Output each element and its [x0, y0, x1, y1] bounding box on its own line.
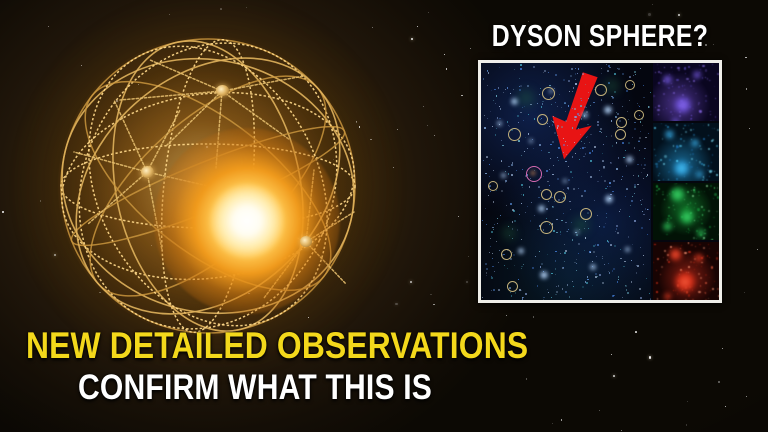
- band-speckle: [653, 95, 655, 97]
- ring-hub-node-top: [216, 85, 229, 96]
- band-speckle: [708, 244, 709, 245]
- band-speckle: [700, 277, 702, 279]
- band-speckle: [686, 78, 688, 80]
- field-star: [491, 290, 492, 291]
- field-star: [649, 293, 650, 294]
- band-speckle: [690, 118, 692, 120]
- field-star: [501, 161, 502, 162]
- field-star: [565, 291, 567, 293]
- band-speckle: [701, 219, 702, 220]
- band-speckle: [698, 210, 699, 211]
- field-star: [493, 100, 494, 101]
- field-star: [483, 78, 484, 79]
- band-speckle: [710, 240, 711, 241]
- band-speckle: [692, 289, 693, 290]
- field-star: [602, 160, 604, 162]
- field-star: [609, 182, 611, 184]
- band-speckle: [664, 67, 665, 68]
- band-speckle: [666, 108, 667, 109]
- field-star: [486, 272, 488, 274]
- field-star: [641, 204, 642, 205]
- band-speckle: [716, 174, 718, 176]
- field-star: [618, 279, 619, 280]
- field-star: [490, 238, 491, 239]
- field-star: [606, 64, 607, 65]
- field-star: [585, 237, 587, 239]
- band-speckle: [663, 179, 664, 180]
- field-star: [554, 132, 556, 134]
- field-star: [583, 156, 584, 157]
- band-speckle: [676, 183, 677, 184]
- field-star: [644, 158, 645, 159]
- band-speckle: [690, 166, 692, 168]
- band-speckle: [664, 250, 665, 251]
- band-speckle: [669, 159, 671, 161]
- band-speckle: [699, 65, 700, 66]
- field-star: [579, 115, 580, 116]
- field-star: [643, 255, 644, 256]
- field-star: [498, 87, 500, 89]
- field-star: [603, 168, 604, 169]
- field-star: [642, 199, 643, 200]
- field-star: [551, 273, 553, 275]
- field-star: [592, 150, 594, 152]
- field-star: [578, 243, 579, 244]
- band-speckle: [712, 288, 714, 290]
- field-star: [576, 263, 577, 264]
- background-star: [506, 315, 507, 316]
- background-star: [746, 396, 748, 398]
- band-speckle: [704, 191, 706, 193]
- band-speckle: [676, 178, 678, 180]
- background-star: [649, 356, 652, 359]
- field-star: [531, 202, 532, 203]
- band-speckle: [658, 114, 659, 115]
- field-star: [572, 91, 573, 92]
- band-speckle: [714, 281, 715, 282]
- band-speckle: [668, 261, 670, 263]
- band-speckle: [703, 256, 704, 257]
- field-star: [629, 76, 631, 78]
- field-star: [611, 120, 613, 122]
- field-star: [596, 256, 598, 258]
- band-speckle: [681, 245, 682, 246]
- band-speckle: [656, 190, 658, 192]
- field-star: [587, 124, 588, 125]
- band-speckle: [693, 135, 694, 136]
- band-speckle: [672, 114, 673, 115]
- band-speckle: [703, 164, 705, 166]
- band-speckle: [660, 72, 662, 74]
- field-star: [547, 289, 548, 290]
- field-star: [587, 276, 588, 277]
- field-star: [597, 244, 599, 246]
- field-star: [560, 253, 561, 254]
- field-star: [612, 191, 614, 193]
- band-source-blob: [670, 187, 685, 202]
- field-star: [622, 176, 623, 177]
- field-star: [566, 154, 567, 155]
- field-star: [601, 99, 602, 100]
- field-star: [548, 152, 550, 154]
- field-star: [555, 268, 557, 270]
- candidate-source-marker: [501, 249, 512, 260]
- band-source-blob: [697, 229, 705, 237]
- field-star: [569, 201, 570, 202]
- background-star: [2, 211, 3, 212]
- field-star: [513, 210, 515, 212]
- band-speckle: [699, 244, 701, 246]
- field-bright-star: [538, 205, 545, 212]
- background-star: [444, 54, 445, 55]
- field-star: [493, 170, 494, 171]
- band-speckle: [703, 247, 705, 249]
- field-star: [488, 195, 489, 196]
- field-star: [565, 111, 566, 112]
- field-star: [525, 212, 526, 213]
- field-star: [555, 274, 556, 275]
- band-speckle: [705, 282, 707, 284]
- band-speckle: [685, 131, 687, 133]
- band-speckle: [717, 196, 719, 198]
- band-speckle: [692, 299, 693, 300]
- field-star: [547, 181, 548, 182]
- field-star: [570, 209, 571, 210]
- band-speckle: [709, 248, 710, 249]
- band-speckle: [710, 290, 711, 291]
- field-star: [521, 239, 522, 240]
- field-star: [534, 215, 535, 216]
- band-speckle: [693, 237, 695, 239]
- field-star: [605, 223, 606, 224]
- band-speckle: [697, 220, 699, 222]
- field-star: [541, 150, 542, 151]
- background-star: [428, 12, 429, 13]
- field-star: [580, 105, 582, 107]
- field-star: [498, 289, 500, 291]
- band-speckle: [708, 124, 709, 125]
- highlighted-source-core: [531, 171, 535, 175]
- field-star: [578, 188, 579, 189]
- field-star: [618, 68, 620, 70]
- band-speckle: [692, 123, 693, 124]
- band-speckle: [716, 211, 717, 212]
- field-star: [601, 176, 602, 177]
- band-speckle: [705, 292, 706, 293]
- field-star: [551, 120, 552, 121]
- field-star: [549, 185, 550, 186]
- field-star: [552, 141, 554, 143]
- field-star: [640, 247, 641, 248]
- field-star: [568, 80, 570, 82]
- background-star: [427, 125, 428, 126]
- band-speckle: [675, 290, 676, 291]
- field-star: [487, 85, 488, 86]
- field-star: [492, 253, 493, 254]
- band-speckle: [709, 170, 711, 172]
- band-speckle: [672, 86, 673, 87]
- field-star: [630, 205, 631, 206]
- field-star: [483, 160, 484, 161]
- field-star: [573, 87, 574, 88]
- band-speckle: [684, 125, 686, 127]
- band-speckle: [701, 206, 702, 207]
- field-star: [586, 107, 587, 108]
- field-star: [634, 122, 636, 124]
- band-speckle: [717, 187, 718, 188]
- field-star: [543, 297, 545, 299]
- field-star: [497, 117, 499, 119]
- background-star: [722, 348, 723, 349]
- band-speckle: [700, 148, 701, 149]
- band-speckle: [673, 145, 675, 147]
- band-speckle: [699, 145, 701, 147]
- field-star: [540, 88, 541, 89]
- band-speckle: [671, 83, 672, 84]
- candidate-source-marker: [616, 117, 627, 128]
- field-star: [640, 121, 641, 122]
- field-star: [649, 106, 651, 108]
- field-star: [610, 162, 612, 164]
- band-speckle: [687, 191, 689, 193]
- background-star: [745, 57, 746, 58]
- field-star: [557, 157, 558, 158]
- field-star: [640, 297, 642, 299]
- background-star: [686, 424, 688, 426]
- band-speckle: [713, 120, 714, 121]
- field-star: [495, 134, 497, 136]
- band-speckle: [714, 187, 716, 189]
- field-star: [581, 100, 582, 101]
- band-speckle: [655, 155, 656, 156]
- band-speckle: [664, 199, 665, 200]
- field-star: [590, 160, 591, 161]
- field-star: [625, 196, 626, 197]
- field-star: [598, 115, 599, 116]
- field-nebulosity: [499, 223, 519, 243]
- band-speckle: [693, 129, 694, 130]
- band-speckle: [654, 244, 655, 245]
- field-star: [620, 249, 621, 250]
- field-star: [634, 220, 635, 221]
- field-star: [566, 193, 567, 194]
- band-speckle: [690, 245, 691, 246]
- field-star: [574, 119, 576, 121]
- field-star: [518, 140, 520, 142]
- field-star: [552, 124, 554, 126]
- band-speckle: [711, 162, 712, 163]
- field-star: [493, 229, 494, 230]
- band-speckle: [703, 209, 705, 211]
- background-star: [458, 216, 459, 217]
- band-speckle: [658, 105, 660, 107]
- field-star: [518, 122, 519, 123]
- band-speckle: [658, 161, 659, 162]
- field-star: [608, 242, 609, 243]
- field-star: [604, 180, 606, 182]
- background-star: [372, 27, 373, 28]
- field-star: [553, 165, 554, 166]
- band-panel-cyan: [653, 123, 719, 181]
- field-star: [643, 85, 644, 86]
- field-star: [597, 124, 599, 126]
- band-speckle: [691, 158, 693, 160]
- band-speckle: [705, 299, 707, 300]
- field-star: [639, 137, 641, 139]
- field-star: [581, 118, 583, 120]
- field-star: [628, 236, 629, 237]
- field-star: [597, 215, 598, 216]
- band-speckle: [658, 175, 659, 176]
- field-star: [493, 289, 495, 291]
- band-speckle: [717, 288, 719, 290]
- background-star: [552, 423, 553, 424]
- band-speckle: [694, 269, 695, 270]
- background-star: [718, 381, 719, 382]
- field-star: [491, 231, 493, 233]
- field-bright-star: [590, 264, 596, 270]
- band-speckle: [671, 67, 672, 68]
- field-star: [623, 266, 624, 267]
- field-star: [585, 153, 586, 154]
- candidate-source-marker: [634, 110, 644, 120]
- field-star: [517, 115, 519, 117]
- field-star: [629, 100, 630, 101]
- band-speckle: [694, 188, 696, 190]
- band-speckle: [695, 203, 696, 204]
- band-speckle: [697, 167, 698, 168]
- field-star: [589, 142, 590, 143]
- title-line-2: CONFIRM WHAT THIS IS: [78, 368, 432, 408]
- field-star: [600, 128, 602, 130]
- field-star: [574, 142, 575, 143]
- band-source-blob: [664, 293, 671, 300]
- band-speckle: [686, 183, 687, 184]
- field-star: [556, 291, 558, 293]
- field-star: [564, 261, 565, 262]
- field-star: [632, 196, 633, 197]
- field-star: [519, 78, 520, 79]
- field-star: [540, 266, 541, 267]
- field-star: [578, 128, 579, 129]
- field-star: [532, 267, 533, 268]
- field-star: [615, 231, 616, 232]
- band-source-blob: [696, 171, 703, 178]
- field-star: [622, 297, 623, 298]
- band-speckle: [709, 176, 710, 177]
- field-star: [486, 275, 487, 276]
- field-star: [578, 115, 579, 116]
- field-star: [505, 180, 507, 182]
- band-panel-green: [653, 183, 719, 241]
- thumbnail-canvas: DYSON SPHERE? NEW DETAILED OBSERVATIONS …: [0, 0, 768, 432]
- field-star: [616, 168, 618, 170]
- field-star: [559, 94, 560, 95]
- field-star: [565, 161, 566, 162]
- background-star: [433, 304, 434, 305]
- band-speckle: [655, 163, 657, 165]
- band-speckle: [690, 85, 692, 87]
- field-star: [592, 261, 593, 262]
- field-bright-star: [563, 179, 567, 183]
- field-star: [572, 177, 573, 178]
- field-star: [565, 120, 567, 122]
- field-star: [626, 289, 628, 291]
- field-star: [580, 98, 582, 100]
- background-star: [744, 292, 745, 293]
- field-star: [564, 252, 566, 254]
- background-star: [466, 281, 468, 283]
- field-star: [633, 159, 634, 160]
- background-star: [470, 48, 471, 49]
- field-star: [587, 279, 589, 281]
- field-star: [495, 103, 496, 104]
- field-star: [564, 244, 565, 245]
- band-speckle: [668, 100, 669, 101]
- field-star: [514, 265, 515, 266]
- field-star: [573, 286, 574, 287]
- band-speckle: [698, 216, 700, 218]
- field-star: [565, 250, 567, 252]
- band-speckle: [683, 128, 684, 129]
- field-star: [522, 187, 523, 188]
- field-star: [627, 111, 628, 112]
- band-speckle: [657, 258, 659, 260]
- field-star: [603, 166, 604, 167]
- field-star: [541, 263, 543, 265]
- band-speckle: [705, 69, 707, 71]
- field-star: [578, 253, 579, 254]
- field-star: [576, 270, 577, 271]
- candidate-source-marker: [554, 191, 566, 203]
- field-bright-star: [625, 247, 630, 252]
- band-speckle: [689, 230, 690, 231]
- band-speckle: [705, 274, 707, 276]
- field-star: [606, 217, 607, 218]
- band-speckle: [691, 190, 693, 192]
- band-speckle: [693, 80, 695, 82]
- field-star: [515, 292, 517, 294]
- field-star: [489, 252, 490, 253]
- field-star: [538, 197, 540, 199]
- band-speckle: [656, 270, 657, 271]
- field-star: [618, 157, 620, 159]
- field-star: [627, 292, 629, 294]
- field-star: [640, 200, 641, 201]
- field-star: [519, 214, 520, 215]
- field-star: [492, 126, 493, 127]
- field-star: [557, 106, 558, 107]
- field-star: [496, 95, 498, 97]
- band-speckle: [653, 262, 654, 263]
- field-star: [486, 268, 488, 270]
- field-star: [641, 172, 643, 174]
- field-star: [634, 193, 635, 194]
- band-speckle: [658, 82, 660, 84]
- field-star: [549, 169, 550, 170]
- field-star: [565, 222, 566, 223]
- band-source-blob: [665, 130, 674, 139]
- field-star: [648, 133, 649, 134]
- field-star: [546, 218, 547, 219]
- field-star: [529, 186, 530, 187]
- field-star: [643, 214, 644, 215]
- field-star: [562, 288, 563, 289]
- band-speckle: [694, 207, 695, 208]
- field-star: [546, 208, 548, 210]
- band-speckle: [711, 140, 713, 142]
- band-speckle: [689, 162, 691, 164]
